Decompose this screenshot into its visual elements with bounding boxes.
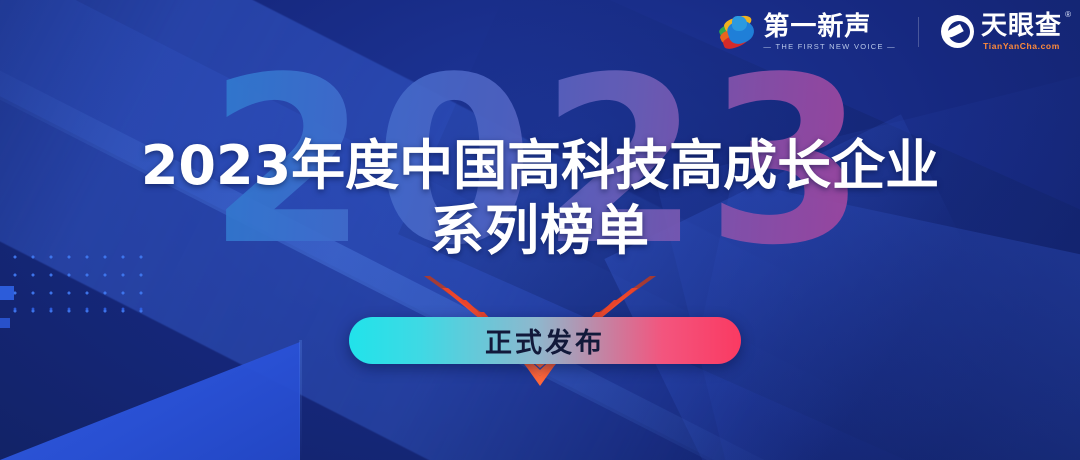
logo-diyixinsheng[interactable]: 第一新声 — THE FIRST NEW VOICE — bbox=[718, 14, 896, 51]
logo-divider bbox=[918, 17, 919, 47]
award-announcement-banner: 2023 2023年度中国高科技高成长企业 系列榜单 正式发布 第一新声 bbox=[0, 0, 1080, 460]
bottom-left-triangle-highlight bbox=[0, 340, 302, 460]
logo-diyixinsheng-tagline: — THE FIRST NEW VOICE — bbox=[763, 43, 896, 51]
banner-title-block: 2023年度中国高科技高成长企业 系列榜单 bbox=[0, 136, 1080, 262]
logo-tianyancha-text: 天眼查 ® TianYanCha.com bbox=[981, 13, 1062, 51]
logo-diyixinsheng-text: 第一新声 — THE FIRST NEW VOICE — bbox=[763, 14, 896, 51]
logo-tianyancha-trademark: ® bbox=[1065, 11, 1071, 19]
left-accent-square-large bbox=[0, 286, 14, 300]
swirl-ribbon-logo-icon bbox=[718, 15, 756, 49]
left-accent-square-small bbox=[0, 318, 10, 328]
bottom-left-triangle-shape bbox=[0, 342, 300, 460]
page-title-line-2: 系列榜单 bbox=[0, 200, 1080, 262]
logo-tianyancha[interactable]: 天眼查 ® TianYanCha.com bbox=[941, 13, 1062, 51]
header-logo-group: 第一新声 — THE FIRST NEW VOICE — 天眼查 ® TianY… bbox=[718, 13, 1062, 51]
left-dot-grid-pattern-lower bbox=[6, 300, 150, 320]
release-status-pill[interactable]: 正式发布 bbox=[349, 317, 741, 364]
logo-tianyancha-domain: TianYanCha.com bbox=[981, 42, 1062, 51]
logo-tianyancha-name: 天眼查 bbox=[981, 13, 1062, 39]
release-status-label: 正式发布 bbox=[485, 321, 605, 360]
logo-diyixinsheng-name: 第一新声 bbox=[763, 14, 896, 40]
page-title-line-1: 2023年度中国高科技高成长企业 bbox=[0, 136, 1080, 196]
camera-aperture-eye-logo-icon bbox=[941, 15, 974, 48]
